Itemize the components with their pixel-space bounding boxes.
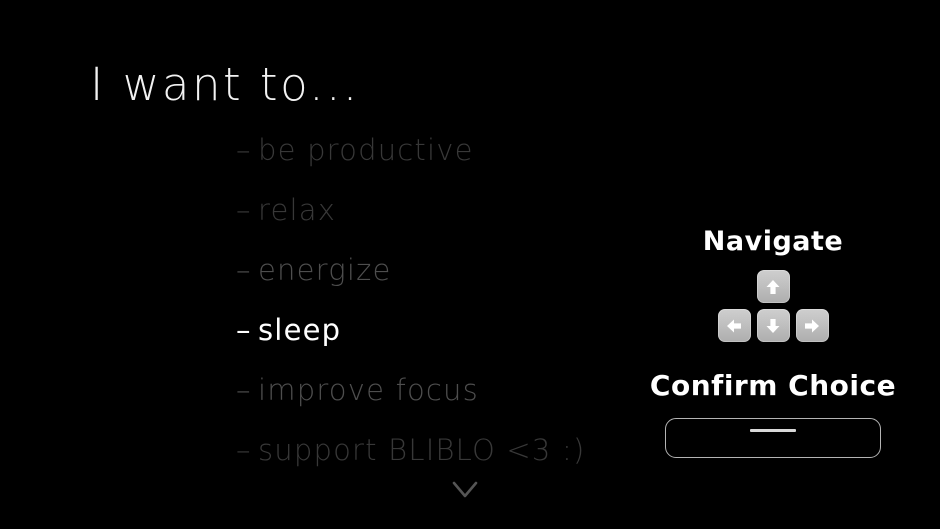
menu-item-energize[interactable]: – energize: [236, 256, 666, 316]
menu-item-label: sleep: [258, 316, 341, 345]
arrow-key-row-top: [757, 270, 790, 303]
arrow-key-cluster: [620, 270, 926, 342]
arrow-right-icon: [802, 316, 822, 336]
menu-item-improve-focus[interactable]: – improve focus: [236, 376, 666, 436]
menu-item-dash: –: [236, 436, 258, 465]
menu-item-dash: –: [236, 136, 258, 165]
chevron-down-icon[interactable]: [450, 478, 480, 502]
controls-panel: Navigate: [620, 228, 926, 458]
menu-item-label: energize: [258, 256, 392, 285]
menu-item-be-productive[interactable]: – be productive: [236, 136, 666, 196]
arrow-key-row-bottom: [718, 309, 829, 342]
arrow-left-key[interactable]: [718, 309, 751, 342]
menu-item-dash: –: [236, 316, 258, 345]
arrow-up-icon: [763, 277, 783, 297]
arrow-right-key[interactable]: [796, 309, 829, 342]
menu-item-dash: –: [236, 196, 258, 225]
menu-item-dash: –: [236, 376, 258, 405]
spacebar-glyph-line: [750, 429, 796, 432]
arrow-down-icon: [763, 316, 783, 336]
page-title: I want to...: [90, 62, 360, 107]
menu-item-dash: –: [236, 256, 258, 285]
confirm-hint-label: Confirm Choice: [620, 372, 926, 400]
arrow-up-key[interactable]: [757, 270, 790, 303]
arrow-down-key[interactable]: [757, 309, 790, 342]
arrow-left-icon: [724, 316, 744, 336]
menu-screen: I want to... – be productive – relax – e…: [0, 0, 940, 529]
navigate-hint-label: Navigate: [620, 228, 926, 255]
menu-item-relax[interactable]: – relax: [236, 196, 666, 256]
spacebar-key-icon[interactable]: [665, 418, 881, 458]
menu-item-label: be productive: [258, 136, 474, 165]
confirm-hint-block: Confirm Choice: [620, 372, 926, 458]
menu-list: – be productive – relax – energize – sle…: [236, 136, 666, 496]
menu-item-label: support BLIBLO <3 :): [258, 436, 585, 465]
menu-item-sleep-selected[interactable]: – sleep: [236, 316, 666, 376]
menu-item-label: improve focus: [258, 376, 479, 405]
menu-item-label: relax: [258, 196, 336, 225]
